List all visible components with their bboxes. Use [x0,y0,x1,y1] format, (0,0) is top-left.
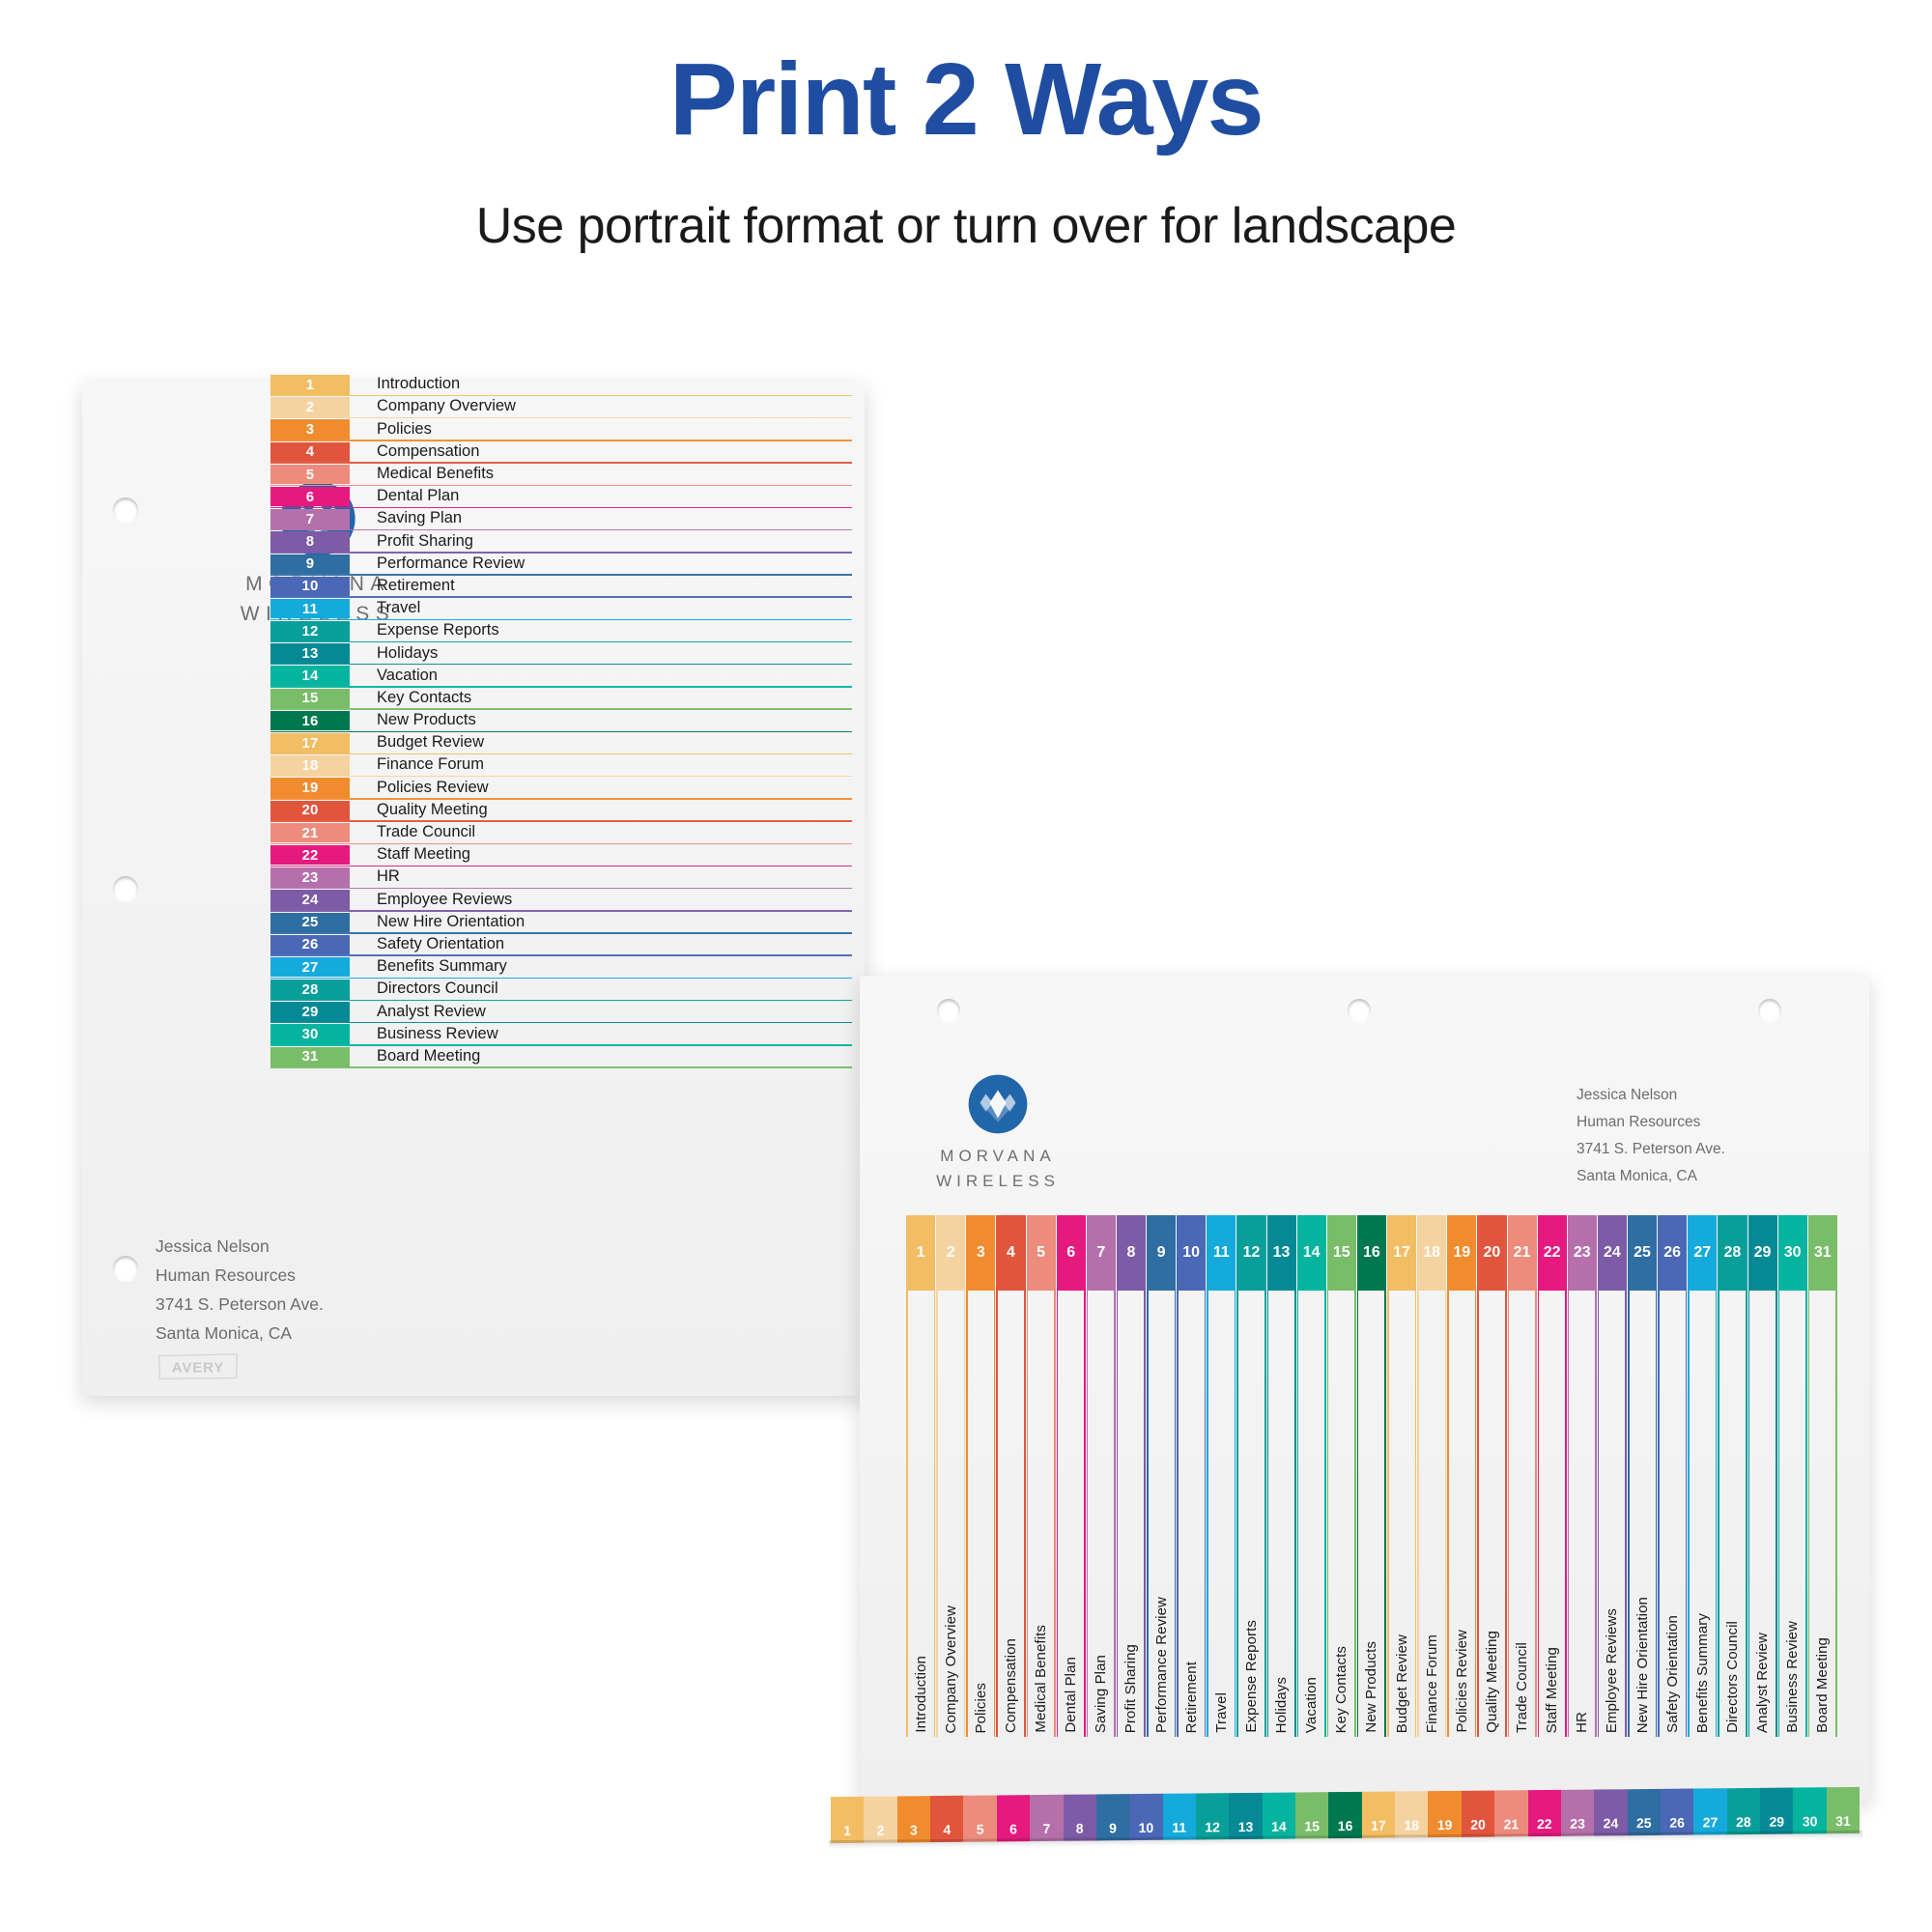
table-row: 11Travel [270,598,850,620]
table-row: 21Trade Council [270,822,850,844]
tab-label: Expense Reports [377,620,499,641]
tab-label: Medical Benefits [1033,1625,1049,1733]
binder-hole [113,497,138,523]
tab-label: Compensation [1003,1638,1019,1733]
bottom-tab: 27 [1693,1788,1726,1834]
page-title: Print 2 Ways [0,46,1932,154]
table-row: 20Quality Meeting [270,800,850,822]
tab-label: Performance Review [377,554,525,575]
contact-street: 3741 S. Peterson Ave. [1577,1136,1725,1163]
landscape-tab-column: 24Employee Reviews [1598,1215,1627,1737]
tab-number-chip: 9 [270,554,350,575]
table-row: 22Staff Meeting [270,844,850,867]
bottom-tab: 7 [1030,1795,1063,1841]
landscape-tab-column: 8Profit Sharing [1117,1215,1146,1737]
landscape-tab-column: 18Finance Forum [1417,1215,1446,1737]
tab-number-chip: 20 [270,801,350,821]
tab-number-chip: 1 [270,375,350,395]
tab-label-vertical-wrap: Company Overview [936,1318,965,1733]
tab-number-chip: 9 [1147,1215,1176,1291]
tab-label: Trade Council [377,822,475,843]
table-row: 8Profit Sharing [270,530,850,553]
contact-name: Jessica Nelson [156,1232,324,1261]
tab-number-chip: 31 [270,1047,350,1067]
tab-label: Saving Plan [1093,1655,1109,1733]
table-row: 10Retirement [270,576,850,598]
table-row: 25New Hire Orientation [270,912,850,934]
tab-number-chip: 30 [1778,1215,1807,1291]
bottom-tab: 4 [930,1796,963,1842]
tab-label: New Products [377,710,476,731]
avery-logo: AVERY [156,1352,241,1386]
tab-label-vertical-wrap: Quality Meeting [1477,1318,1506,1733]
landscape-tab-column: 22Staff Meeting [1538,1215,1567,1737]
binder-hole [1758,999,1781,1022]
bottom-tab: 26 [1661,1789,1693,1835]
table-row: 6Dental Plan [270,486,850,508]
tab-label: Business Review [1784,1621,1801,1733]
tab-number-chip: 8 [270,531,350,552]
tab-number-chip: 23 [1568,1215,1597,1291]
tab-label: Introduction [913,1656,929,1733]
table-row: 14Vacation [270,665,850,687]
tab-label: Travel [1213,1692,1230,1733]
tab-number-chip: 21 [270,823,350,843]
bottom-tab: 21 [1494,1790,1527,1836]
tab-label: Introduction [377,374,460,395]
tab-label: Budget Review [377,732,484,753]
tab-number-chip: 7 [270,509,350,529]
table-row: 24Employee Reviews [270,889,850,911]
tab-number-chip: 11 [270,599,350,619]
tab-number-chip: 3 [270,419,350,440]
tab-label: Retirement [1183,1662,1200,1733]
tab-label: Benefits Summary [377,956,507,978]
table-row: 1Introduction [270,374,850,396]
page-subtitle: Use portrait format or turn over for lan… [0,198,1932,256]
tab-number-chip: 18 [270,755,350,776]
tab-label: Profit Sharing [377,530,473,552]
landscape-tab-column: 31Board Meeting [1808,1215,1837,1737]
tab-number-chip: 4 [996,1215,1025,1291]
bottom-tab: 3 [897,1796,930,1842]
landscape-tab-column: 27Benefits Summary [1688,1215,1717,1737]
tab-label: Safety Orientation [1664,1615,1681,1733]
tab-number-chip: 3 [966,1215,995,1291]
tab-label-vertical-wrap: Employee Reviews [1598,1318,1627,1733]
table-row: 2Company Overview [270,396,850,418]
table-row: 4Compensation [270,441,850,464]
contact-block: Jessica Nelson Human Resources 3741 S. P… [156,1232,324,1348]
tab-number-chip: 19 [270,778,350,798]
brand-name-line2: WIRELESS [925,1172,1070,1191]
contact-city-state: Santa Monica, CA [1577,1163,1725,1190]
tab-label: Dental Plan [1063,1657,1079,1733]
tab-label-vertical-wrap: Policies [966,1318,995,1733]
tab-label-vertical-wrap: Introduction [906,1318,935,1733]
landscape-tab-column: 4Compensation [996,1215,1025,1737]
tab-label: Performance Review [1153,1597,1170,1733]
table-row: 18Finance Forum [270,754,850,777]
tab-number-chip: 7 [1087,1215,1116,1291]
tab-label-vertical-wrap: Budget Review [1387,1318,1416,1733]
tab-label: Quality Meeting [377,800,488,821]
tab-number-chip: 23 [270,867,350,888]
brand-name-line1: MORVANA [925,1147,1070,1166]
bottom-tab: 30 [1793,1787,1826,1833]
tab-number-chip: 14 [1297,1215,1326,1291]
tab-number-chip: 5 [270,465,350,485]
tab-label: Policies [973,1683,989,1734]
landscape-tab-column: 6Dental Plan [1057,1215,1086,1737]
tab-label: Retirement [377,576,455,597]
tab-number-chip: 10 [1177,1215,1206,1291]
table-row: 13Holidays [270,642,850,665]
tab-number-chip: 18 [1417,1215,1446,1291]
table-row: 17Budget Review [270,732,850,754]
morvana-mountain-logo-icon [966,1072,1030,1136]
tab-label: Business Review [377,1023,498,1044]
tab-label-vertical-wrap: Expense Reports [1236,1318,1265,1733]
tab-number-chip: 25 [1628,1215,1657,1291]
tab-label: Policies Review [1454,1630,1470,1733]
tab-number-chip: 15 [270,689,350,709]
landscape-tab-column: 29Analyst Review [1748,1215,1777,1737]
bottom-tab: 12 [1196,1793,1229,1839]
tab-number-chip: 17 [1387,1215,1416,1291]
bottom-tab: 17 [1362,1792,1395,1838]
tab-number-chip: 29 [1748,1215,1777,1291]
tab-number-chip: 16 [270,711,350,731]
tab-label-vertical-wrap: Saving Plan [1087,1318,1116,1733]
tab-number-chip: 25 [270,913,350,933]
tab-label: Directors Council [1724,1621,1741,1733]
landscape-tab-column: 3Policies [966,1215,995,1737]
contact-department: Human Resources [156,1261,324,1290]
tab-number-chip: 5 [1027,1215,1056,1291]
tab-number-chip: 14 [270,666,350,686]
tab-label: Holidays [377,642,438,664]
tab-label: Employee Reviews [1604,1608,1620,1733]
binder-hole [937,999,960,1022]
tab-number-chip: 30 [270,1024,350,1044]
tab-number-chip: 16 [1357,1215,1386,1291]
tab-number-chip: 20 [1477,1215,1506,1291]
tab-label: Analyst Review [377,1001,486,1022]
bottom-tab: 28 [1727,1788,1760,1834]
tab-number-chip: 28 [1718,1215,1747,1291]
tab-label: Quality Meeting [1484,1631,1500,1733]
bottom-tab: 23 [1561,1790,1594,1836]
table-row: 3Policies [270,418,850,440]
bottom-tab: 2 [864,1796,896,1842]
table-row: 23HR [270,867,850,889]
tab-label: New Hire Orientation [1634,1597,1651,1733]
tab-number-chip: 2 [270,397,350,417]
landscape-tab-column: 20Quality Meeting [1477,1215,1506,1737]
tab-label-vertical-wrap: Safety Orientation [1658,1318,1687,1733]
tab-label: Compensation [377,441,479,463]
tab-label: Employee Reviews [377,889,512,910]
tab-label-vertical-wrap: HR [1568,1318,1597,1733]
landscape-tab-column: 16New Products [1357,1215,1386,1737]
binder-hole [113,876,138,901]
landscape-tab-column: 21Trade Council [1508,1215,1537,1737]
tab-label: Vacation [1303,1677,1320,1733]
bottom-tab: 25 [1628,1789,1661,1835]
tab-number-chip: 26 [1658,1215,1687,1291]
tab-label: Staff Meeting [1544,1647,1560,1733]
landscape-tab-column: 1Introduction [906,1215,935,1737]
landscape-tab-column: 10Retirement [1177,1215,1206,1737]
tab-label: Profit Sharing [1122,1644,1139,1733]
table-row: 19Policies Review [270,777,850,799]
tab-label: Directors Council [377,979,498,1000]
tab-number-chip: 27 [1688,1215,1717,1291]
table-row: 30Business Review [270,1023,850,1045]
table-row: 7Saving Plan [270,508,850,530]
tab-number-chip: 2 [936,1215,965,1291]
tab-label: New Hire Orientation [377,912,525,933]
tab-label: HR [1574,1712,1590,1733]
landscape-tab-column: 30Business Review [1778,1215,1807,1737]
bottom-tab: 1 [831,1797,864,1843]
bottom-tab: 15 [1295,1792,1328,1838]
brand-logo-block: MORVANA WIRELESS [925,1072,1070,1191]
tab-number-chip: 22 [270,845,350,866]
tab-label: Benefits Summary [1694,1613,1711,1733]
tab-label-vertical-wrap: Policies Review [1447,1318,1476,1733]
tab-label-vertical-wrap: Business Review [1778,1318,1807,1733]
landscape-tab-column: 11Travel [1207,1215,1236,1737]
landscape-tab-columns: 1Introduction2Company Overview3Policies4… [906,1215,1838,1737]
tab-number-chip: 11 [1207,1215,1236,1291]
bottom-tab: 9 [1096,1794,1129,1840]
tab-number-chip: 6 [270,487,350,507]
tab-label: Company Overview [377,396,516,417]
svg-text:AVERY: AVERY [172,1359,224,1376]
bottom-tab: 29 [1760,1788,1793,1834]
table-row: 15Key Contacts [270,688,850,710]
tab-number-chip: 31 [1808,1215,1837,1291]
bottom-tab: 31 [1827,1787,1860,1833]
bottom-tab: 5 [963,1795,996,1841]
tab-label: Trade Council [1514,1642,1530,1733]
bottom-tab: 16 [1328,1792,1361,1838]
bottom-tab: 20 [1462,1791,1494,1837]
tab-label: New Products [1363,1641,1379,1733]
tab-label: Expense Reports [1243,1620,1260,1733]
bottom-tab: 22 [1528,1790,1561,1836]
bottom-tab: 11 [1163,1793,1196,1839]
portrait-index-table: 1Introduction2Company Overview3Policies4… [270,374,850,1068]
landscape-divider-sheet: MORVANA WIRELESS Jessica Nelson Human Re… [860,976,1869,1802]
tab-label-vertical-wrap: Directors Council [1718,1318,1747,1733]
tab-number-chip: 27 [270,957,350,978]
tab-number-chip: 15 [1327,1215,1356,1291]
tab-number-chip: 4 [270,442,350,463]
binder-hole [113,1256,138,1281]
landscape-tab-column: 17Budget Review [1387,1215,1416,1737]
tab-number-chip: 21 [1508,1215,1537,1291]
tab-label-vertical-wrap: Performance Review [1147,1318,1176,1733]
tab-label: Saving Plan [377,508,462,529]
table-row: 9Performance Review [270,554,850,576]
tab-label-vertical-wrap: Holidays [1267,1318,1296,1733]
tab-number-chip: 13 [270,643,350,664]
tab-label: Policies [377,418,432,440]
table-row: 26Safety Orientation [270,934,850,956]
tab-label: Travel [377,598,420,619]
landscape-tab-column: 12Expense Reports [1236,1215,1265,1737]
tab-label-vertical-wrap: New Hire Orientation [1628,1318,1657,1733]
tab-label: Company Overview [943,1605,959,1733]
landscape-tab-column: 23HR [1568,1215,1597,1737]
tab-number-chip: 12 [1236,1215,1265,1291]
tab-label: Policies Review [377,777,489,798]
landscape-tab-column: 26Safety Orientation [1658,1215,1687,1737]
table-row: 28Directors Council [270,979,850,1001]
bottom-tab: 8 [1064,1794,1096,1840]
table-row: 31Board Meeting [270,1046,850,1068]
table-row: 5Medical Benefits [270,464,850,486]
tab-label: Holidays [1273,1677,1290,1733]
binder-hole [1348,999,1371,1022]
tab-label-vertical-wrap: Benefits Summary [1688,1318,1717,1733]
bottom-tab: 13 [1229,1793,1262,1839]
tab-label: Budget Review [1394,1634,1410,1733]
tab-label-vertical-wrap: New Products [1357,1318,1386,1733]
landscape-tab-column: 5Medical Benefits [1027,1215,1056,1737]
bottom-tab: 6 [997,1795,1030,1841]
tab-number-chip: 24 [270,890,350,910]
tab-label: HR [377,867,400,888]
tab-label: Analyst Review [1754,1633,1771,1733]
landscape-tab-column: 13Holidays [1267,1215,1296,1737]
tab-label: Key Contacts [1333,1646,1350,1733]
table-row: 16New Products [270,710,850,732]
tab-label-vertical-wrap: Staff Meeting [1538,1318,1567,1733]
landscape-tab-column: 15Key Contacts [1327,1215,1356,1737]
tab-number-chip: 24 [1598,1215,1627,1291]
tab-label-vertical-wrap: Retirement [1177,1318,1206,1733]
tab-number-chip: 17 [270,733,350,753]
landscape-tab-column: 9Performance Review [1147,1215,1176,1737]
tab-number-chip: 28 [270,980,350,1000]
landscape-tab-column: 2Company Overview [936,1215,965,1737]
tab-label: Safety Orientation [377,934,504,955]
bottom-tab: 14 [1263,1792,1295,1838]
landscape-tab-column: 25New Hire Orientation [1628,1215,1657,1737]
bottom-tab: 24 [1594,1789,1627,1835]
tab-number-chip: 6 [1057,1215,1086,1291]
contact-department: Human Resources [1577,1109,1725,1136]
table-row: 12Expense Reports [270,620,850,642]
tab-number-chip: 29 [270,1002,350,1022]
table-row: 29Analyst Review [270,1001,850,1023]
tab-label: Medical Benefits [377,464,494,485]
tab-label: Key Contacts [377,688,471,709]
tab-number-chip: 8 [1117,1215,1146,1291]
tab-label-vertical-wrap: Trade Council [1508,1318,1537,1733]
tab-label-vertical-wrap: Medical Benefits [1027,1318,1056,1733]
tab-number-chip: 22 [1538,1215,1567,1291]
bottom-tab: 10 [1129,1794,1162,1840]
portrait-divider-sheet: MORVANA WIRELESS Jessica Nelson Human Re… [82,382,865,1396]
promo-graphic: Print 2 Ways Use portrait format or turn… [0,0,1932,1932]
tab-label-vertical-wrap: Finance Forum [1417,1318,1446,1733]
tab-label-vertical-wrap: Compensation [996,1318,1025,1733]
tab-label: Dental Plan [377,486,459,507]
tab-label-vertical-wrap: Key Contacts [1327,1318,1356,1733]
row-divider [270,1066,852,1067]
tab-label: Finance Forum [1424,1634,1440,1733]
contact-block: Jessica Nelson Human Resources 3741 S. P… [1577,1082,1725,1190]
tab-number-chip: 13 [1267,1215,1296,1291]
tab-label: Staff Meeting [377,844,470,866]
tab-label-vertical-wrap: Dental Plan [1057,1318,1086,1733]
tab-label: Finance Forum [377,754,484,776]
tab-label: Board Meeting [1814,1637,1831,1733]
tab-label-vertical-wrap: Board Meeting [1808,1318,1837,1733]
tab-number-chip: 19 [1447,1215,1476,1291]
landscape-tab-column: 19Policies Review [1447,1215,1476,1737]
tab-label-vertical-wrap: Vacation [1297,1318,1326,1733]
table-row: 27Benefits Summary [270,956,850,979]
contact-city-state: Santa Monica, CA [156,1319,324,1348]
landscape-tab-column: 7Saving Plan [1087,1215,1116,1737]
bottom-tab: 18 [1395,1791,1428,1837]
tab-label-vertical-wrap: Travel [1207,1318,1236,1733]
tab-label: Board Meeting [377,1046,480,1067]
tab-number-chip: 1 [906,1215,935,1291]
landscape-tab-column: 14Vacation [1297,1215,1326,1737]
contact-street: 3741 S. Peterson Ave. [156,1290,324,1319]
landscape-tab-column: 28Directors Council [1718,1215,1747,1737]
tab-label-vertical-wrap: Analyst Review [1748,1318,1777,1733]
tab-number-chip: 12 [270,621,350,641]
bottom-tab: 19 [1428,1791,1461,1837]
tab-number-chip: 10 [270,577,350,597]
contact-name: Jessica Nelson [1577,1082,1725,1109]
tab-label-vertical-wrap: Profit Sharing [1117,1318,1146,1733]
tab-label: Vacation [377,665,438,686]
tab-number-chip: 26 [270,935,350,955]
